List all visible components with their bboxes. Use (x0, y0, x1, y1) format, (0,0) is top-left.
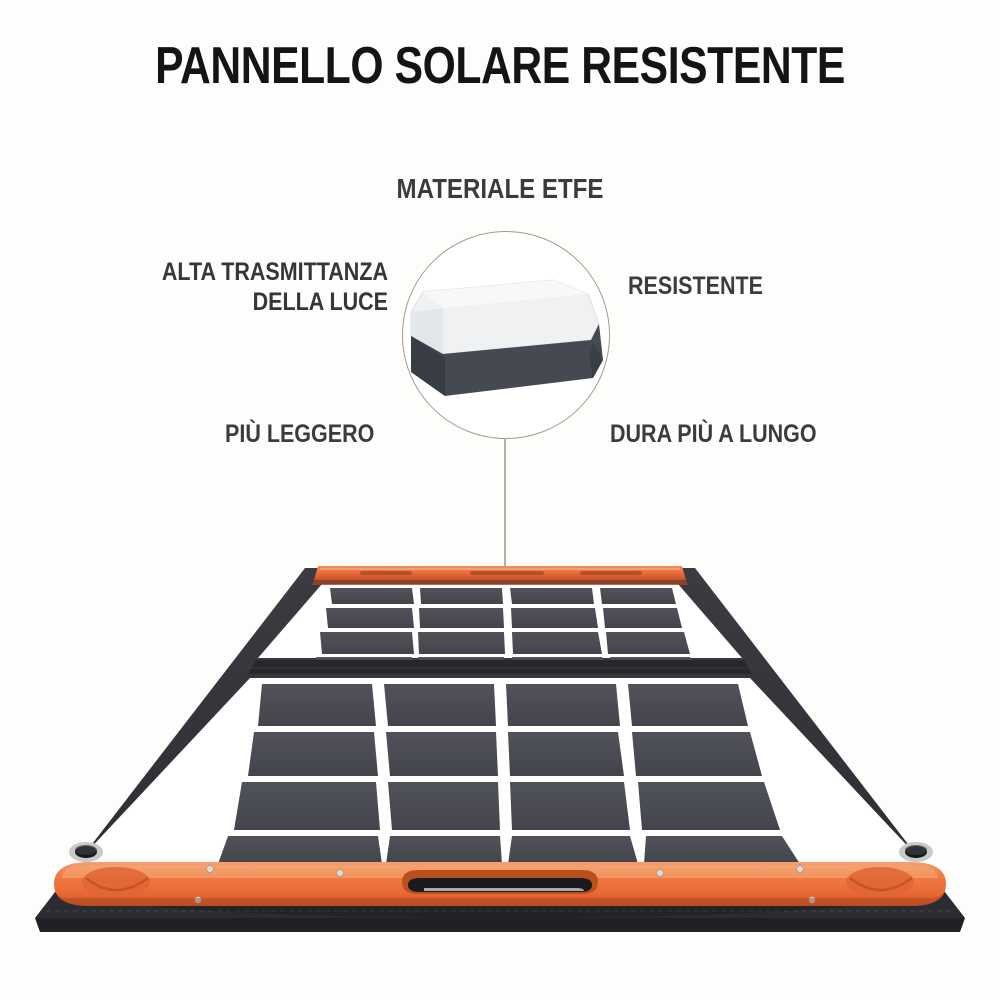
grommet-bottom-left (69, 842, 103, 862)
panel-fold-seam (248, 660, 752, 674)
far-handle-branding (360, 571, 642, 575)
feature-label-piu-leggero: PIÙ LEGGERO (225, 420, 374, 450)
feature-label-alta-trasmittanza: ALTA TRASMITTANZA DELLA LUCE (130, 258, 388, 317)
callout-title: MATERIALE ETFE (70, 172, 930, 205)
carry-slot (402, 870, 598, 894)
grommet-bottom-right (899, 842, 933, 862)
etfe-callout-circle (402, 231, 610, 439)
feature-label-resistente: RESISTENTE (628, 272, 763, 302)
far-handle (312, 566, 688, 585)
product-infographic: PANNELLO SOLARE RESISTENTE MATERIALE ETF… (0, 0, 1000, 1000)
feature-label-line1: ALTA TRASMITTANZA (130, 258, 388, 288)
feature-label-dura-piu-a-lungo: DURA PIÙ A LUNGO (610, 420, 817, 450)
solar-panel-illustration (0, 540, 1000, 960)
panel-section-far (258, 584, 742, 665)
page-title: PANNELLO SOLARE RESISTENTE (90, 36, 910, 96)
feature-label-line2: DELLA LUCE (130, 288, 388, 318)
